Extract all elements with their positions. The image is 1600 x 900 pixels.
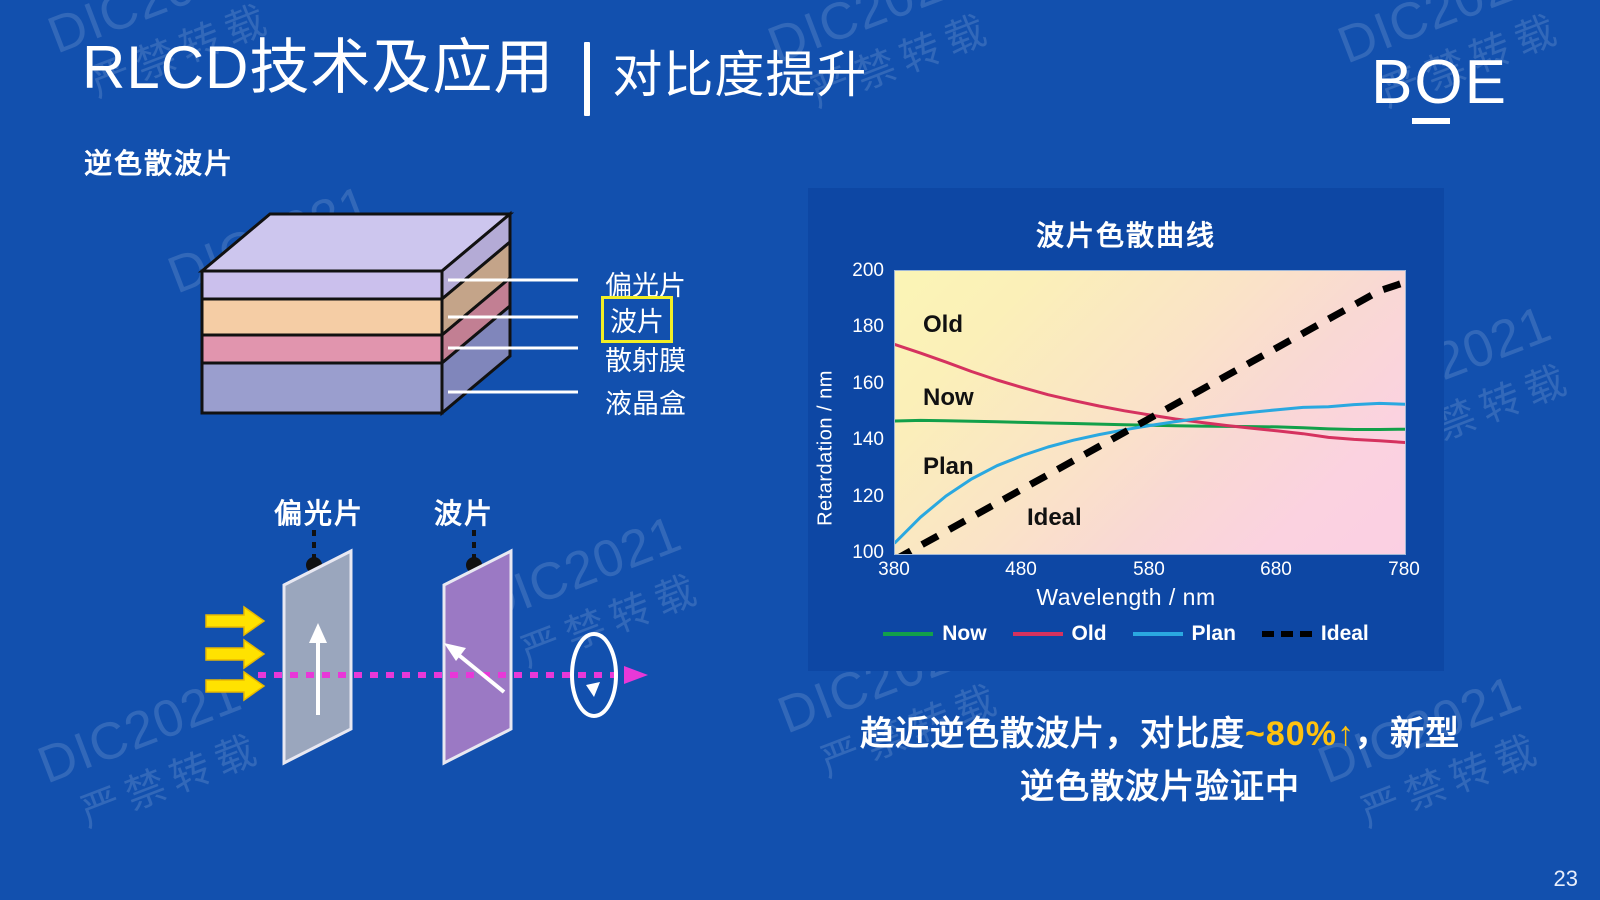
chart-y-axis-label: Retardation / nm	[815, 370, 838, 526]
title-divider	[584, 42, 590, 116]
y-tick: 140	[840, 429, 884, 451]
legend-label-ideal: Ideal	[1321, 622, 1369, 646]
layer-stack-diagram	[180, 196, 580, 426]
legend-swatch-old	[1013, 632, 1063, 636]
conclusion-line1-pre: 趋近逆色散波片，对比度	[860, 715, 1245, 753]
chart-plot-area: Old Now Plan Ideal	[894, 270, 1406, 555]
conclusion-line-2: 逆色散波片验证中	[790, 761, 1530, 814]
chart-legend: Now Old Plan Ideal	[808, 622, 1444, 646]
y-tick: 200	[840, 260, 884, 282]
conclusion-line-1: 趋近逆色散波片，对比度~80%↑，新型	[790, 708, 1530, 761]
conclusion-text: 趋近逆色散波片，对比度~80%↑，新型 逆色散波片验证中	[790, 708, 1530, 813]
x-tick: 380	[864, 559, 924, 581]
slide-root: DIC2021 严禁转载 DIC2021 严禁转载 DIC2021 严禁转载 D…	[0, 0, 1600, 900]
boe-logo-underline	[1412, 118, 1450, 124]
boe-logo-text: BOE	[1371, 52, 1508, 114]
legend-item-ideal: Ideal	[1262, 622, 1369, 646]
section-label: 逆色散波片	[84, 142, 234, 182]
chart-x-axis-label: Wavelength / nm	[808, 584, 1444, 611]
boe-logo: BOE	[1371, 52, 1508, 114]
legend-label-now: Now	[942, 622, 986, 646]
legend-label-old: Old	[1072, 622, 1107, 646]
legend-item-plan: Plan	[1133, 622, 1236, 646]
callout-lc-cell: 液晶盒	[605, 382, 686, 421]
chart-title: 波片色散曲线	[808, 214, 1444, 254]
annotation-old: Old	[923, 311, 963, 339]
annotation-now: Now	[923, 384, 974, 412]
callout-scattering-film: 散射膜	[605, 339, 686, 378]
annotation-plan: Plan	[923, 453, 974, 481]
x-tick: 680	[1246, 559, 1306, 581]
series-ideal	[895, 282, 1405, 554]
legend-label-plan: Plan	[1192, 622, 1236, 646]
legend-swatch-plan	[1133, 632, 1183, 636]
annotation-ideal: Ideal	[1027, 504, 1082, 532]
page-title: RLCD技术及应用 对比度提升	[82, 38, 867, 116]
conclusion-highlight: ~80%↑	[1245, 715, 1355, 753]
chart-curves	[895, 271, 1405, 554]
page-number: 23	[1554, 866, 1578, 892]
legend-item-now: Now	[883, 622, 986, 646]
callout-waveplate: 波片	[601, 296, 673, 343]
x-tick: 480	[991, 559, 1051, 581]
legend-swatch-ideal	[1262, 631, 1312, 637]
y-tick: 120	[840, 486, 884, 508]
legend-swatch-now	[883, 632, 933, 636]
dispersion-chart-panel: 波片色散曲线 Retardation / nm Wavelength / nm …	[808, 188, 1444, 671]
y-tick: 160	[840, 373, 884, 395]
polarizer-caption: 偏光片	[274, 492, 364, 532]
x-tick: 780	[1374, 559, 1434, 581]
conclusion-line1-post: ，新型	[1355, 715, 1460, 753]
title-sub-text: 对比度提升	[612, 50, 867, 100]
x-tick: 580	[1119, 559, 1179, 581]
y-tick: 180	[840, 316, 884, 338]
legend-item-old: Old	[1013, 622, 1107, 646]
title-main-text: RLCD技术及应用	[82, 38, 554, 98]
waveplate-caption: 波片	[434, 492, 494, 532]
optics-diagram: 偏光片 波片	[196, 480, 676, 770]
